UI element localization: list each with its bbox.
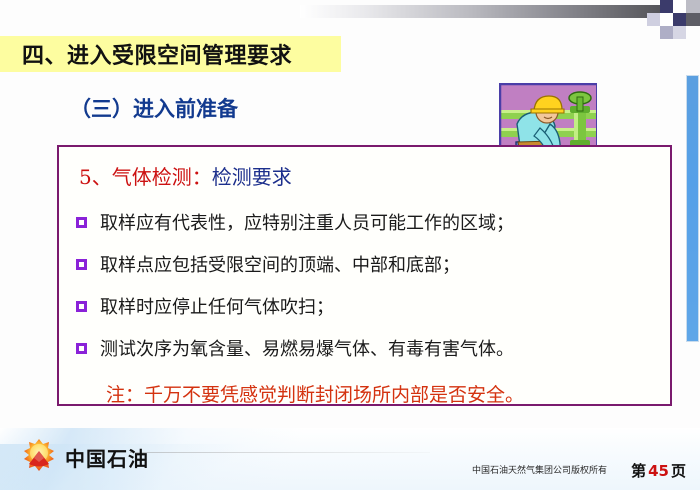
slide-subtitle: （三）进入前准备 bbox=[70, 93, 238, 123]
deco-square-5 bbox=[660, 13, 673, 26]
warning-note: 注：千万不要凭感觉判断封闭场所内部是否安全。 bbox=[106, 380, 524, 407]
square-bullet-icon bbox=[76, 301, 87, 312]
right-accent-bar bbox=[686, 75, 699, 342]
petrochina-logo-svg bbox=[22, 438, 56, 472]
list-item-label: 取样时应停止任何气体吹扫； bbox=[100, 293, 334, 319]
list-item: 取样时应停止任何气体吹扫； bbox=[76, 293, 334, 319]
copyright-text: 中国石油天然气集团公司版权所有 bbox=[472, 463, 607, 476]
footer-hairline bbox=[130, 452, 430, 453]
brand-block: 中国石油 bbox=[22, 438, 149, 476]
page-number-value: 45 bbox=[648, 462, 669, 480]
deco-square-6 bbox=[673, 13, 686, 26]
deco-square-1 bbox=[660, 0, 673, 13]
square-bullet-icon bbox=[76, 217, 87, 228]
list-item-label: 测试次序为氧含量、易燃易爆气体、有毒有害气体。 bbox=[100, 335, 514, 361]
content-box: 5、气体检测：检测要求 取样应有代表性，应特别注重人员可能工作的区域； 取样点应… bbox=[57, 145, 672, 406]
brand-name: 中国石油 bbox=[65, 443, 149, 472]
deco-square-3 bbox=[686, 0, 700, 13]
petrochina-sunburst-logo bbox=[22, 438, 56, 476]
slide-title-banner: 四、进入受限空间管理要求 bbox=[0, 36, 341, 72]
page-title: 四、进入受限空间管理要求 bbox=[22, 38, 292, 70]
deco-square-2 bbox=[673, 0, 686, 13]
list-item-label: 取样点应包括受限空间的顶端、中部和底部； bbox=[100, 251, 460, 277]
list-item-label: 取样应有代表性，应特别注重人员可能工作的区域； bbox=[100, 209, 514, 235]
content-heading: 5、气体检测：检测要求 bbox=[79, 161, 292, 190]
slide-footer: 中国石油 中国石油天然气集团公司版权所有 第45页 bbox=[0, 428, 700, 490]
top-decoration bbox=[0, 0, 700, 32]
top-gradient-bar bbox=[300, 5, 660, 18]
list-item: 取样点应包括受限空间的顶端、中部和底部； bbox=[76, 251, 460, 277]
page-prefix: 第 bbox=[631, 462, 646, 480]
deco-square-9 bbox=[673, 26, 686, 39]
page-number: 第45页 bbox=[631, 460, 686, 481]
list-item: 取样应有代表性，应特别注重人员可能工作的区域； bbox=[76, 209, 514, 235]
deco-square-7 bbox=[686, 13, 700, 26]
page-suffix: 页 bbox=[671, 462, 686, 480]
deco-square-4 bbox=[647, 13, 660, 26]
square-bullet-icon bbox=[76, 259, 87, 270]
square-bullet-icon bbox=[76, 343, 87, 354]
list-item: 测试次序为氧含量、易燃易爆气体、有毒有害气体。 bbox=[76, 335, 514, 361]
content-heading-navy: 检测要求 bbox=[212, 165, 292, 189]
deco-square-8 bbox=[660, 26, 673, 39]
content-heading-red: 5、气体检测： bbox=[79, 165, 212, 189]
